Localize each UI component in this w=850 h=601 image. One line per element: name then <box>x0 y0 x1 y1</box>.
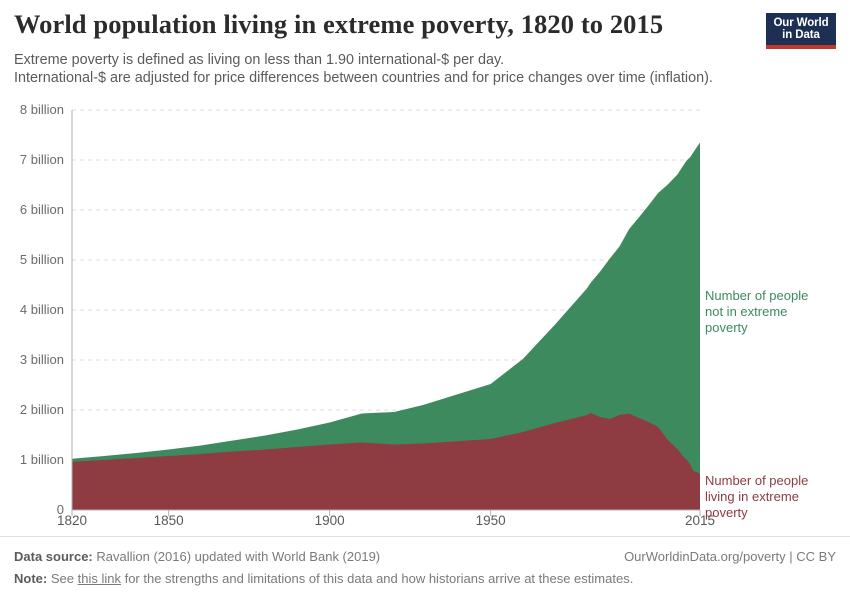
data-source-prefix: Data source: <box>14 549 93 564</box>
logo-line-1: Our World <box>773 17 828 29</box>
y-axis-tick-label: 2 billion <box>4 402 64 417</box>
note-text: Note: See this link for the strengths an… <box>14 571 633 586</box>
x-axis-tick-label: 1850 <box>139 513 199 528</box>
chart-subtitle-line-2: International-$ are adjusted for price d… <box>14 70 713 86</box>
chart-header: World population living in extreme pover… <box>0 0 850 96</box>
legend-label-living-in-extreme-poverty: Number of people living in extreme pover… <box>705 473 825 521</box>
y-axis-tick-label: 7 billion <box>4 152 64 167</box>
data-source-text: Data source: Ravallion (2016) updated wi… <box>14 549 380 564</box>
chart-plot-area: 8 billion7 billion6 billion5 billion4 bi… <box>0 96 850 536</box>
y-axis-tick-label: 3 billion <box>4 352 64 367</box>
note-prefix: Note: <box>14 571 47 586</box>
x-axis-tick-label: 1900 <box>300 513 360 528</box>
y-axis-tick-label: 6 billion <box>4 202 64 217</box>
y-axis-tick-label: 8 billion <box>4 102 64 117</box>
logo-line-2: in Data <box>782 29 820 41</box>
page-title: World population living in extreme pover… <box>14 9 663 40</box>
legend-label-not-in-extreme-poverty: Number of people not in extreme poverty <box>705 288 825 336</box>
y-axis-tick-label: 1 billion <box>4 452 64 467</box>
note-before: See <box>51 571 74 586</box>
y-axis-tick-label: 5 billion <box>4 252 64 267</box>
y-axis-tick-label: 4 billion <box>4 302 64 317</box>
note-after: for the strengths and limitations of thi… <box>125 571 634 586</box>
x-axis-tick-label: 1950 <box>461 513 521 528</box>
our-world-in-data-logo[interactable]: Our World in Data <box>766 13 836 49</box>
x-axis-tick-label: 1820 <box>42 513 102 528</box>
this-link-anchor[interactable]: this link <box>78 571 121 586</box>
data-source-value: Ravallion (2016) updated with World Bank… <box>96 549 380 564</box>
chart-footer: Data source: Ravallion (2016) updated wi… <box>0 536 850 601</box>
chart-subtitle-line-1: Extreme poverty is defined as living on … <box>14 52 504 68</box>
attribution-link[interactable]: OurWorldinData.org/poverty | CC BY <box>624 549 836 564</box>
